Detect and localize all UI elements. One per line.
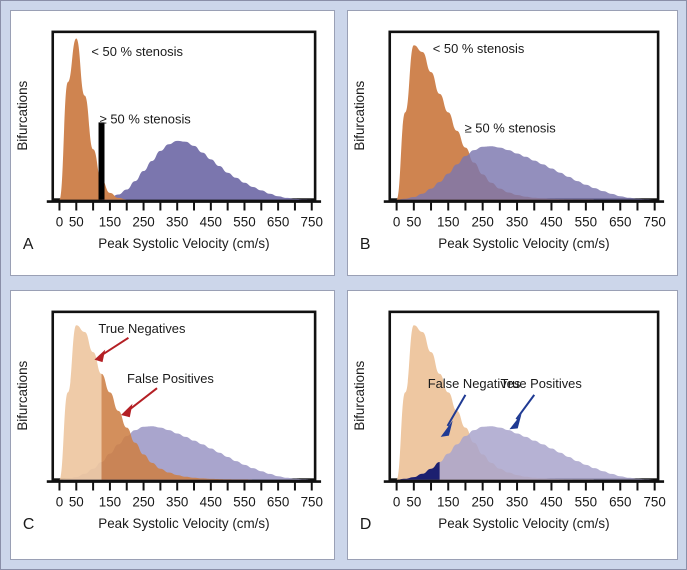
panel-d-plot: False NegativesTrue Positives05015025035… [348, 291, 677, 559]
x-tick-label: 350 [506, 214, 528, 229]
x-tick-label: 150 [437, 214, 459, 229]
low-stenosis-label: < 50 % stenosis [91, 44, 183, 59]
x-tick-label: 650 [609, 494, 631, 509]
x-tick-label: 550 [233, 494, 255, 509]
false-positives-label: False Positives [127, 371, 214, 386]
x-tick-label: 550 [233, 214, 255, 229]
threshold-bar [99, 122, 105, 199]
panel-a: < 50 % stenosis≥ 50 % stenosis0501502503… [10, 10, 335, 276]
true-positives-arrowhead [509, 414, 521, 429]
y-axis-title: Bifurcations [15, 80, 30, 150]
low-stenosis-label: < 50 % stenosis [433, 41, 525, 56]
x-tick-label: 0 [56, 494, 63, 509]
panel-b: < 50 % stenosis≥ 50 % stenosis0501502503… [347, 10, 678, 276]
x-tick-label: 0 [393, 494, 400, 509]
x-tick-label: 350 [166, 214, 188, 229]
x-tick-label: 750 [301, 214, 323, 229]
x-tick-label: 250 [471, 494, 493, 509]
x-tick-label: 450 [200, 214, 222, 229]
panel-a-plot: < 50 % stenosis≥ 50 % stenosis0501502503… [11, 11, 334, 275]
x-tick-label: 250 [132, 494, 154, 509]
x-tick-label: 650 [609, 214, 631, 229]
x-tick-label: 50 [406, 494, 421, 509]
x-tick-label: 750 [643, 214, 665, 229]
x-tick-label: 150 [99, 214, 121, 229]
x-tick-label: 150 [99, 494, 121, 509]
x-tick-label: 450 [540, 494, 562, 509]
true-positives-label: True Positives [500, 376, 581, 391]
panel-letter: C [23, 516, 34, 533]
false-positives-arrowhead [121, 404, 132, 417]
x-tick-label: 250 [132, 214, 154, 229]
x-axis-title: Peak Systolic Velocity (cm/s) [438, 516, 609, 531]
figure-root: < 50 % stenosis≥ 50 % stenosis0501502503… [0, 0, 687, 570]
x-tick-label: 750 [301, 494, 323, 509]
panel-c-plot: True NegativesFalse Positives05015025035… [11, 291, 334, 559]
panel-letter: A [23, 236, 34, 253]
y-axis-title: Bifurcations [352, 360, 367, 430]
x-tick-label: 650 [267, 214, 289, 229]
x-tick-label: 550 [575, 494, 597, 509]
true-negatives-label: True Negatives [98, 321, 185, 336]
panel-letter: B [360, 236, 371, 253]
y-axis-title: Bifurcations [15, 360, 30, 430]
x-tick-label: 50 [69, 494, 84, 509]
x-tick-label: 50 [406, 214, 421, 229]
x-tick-label: 550 [575, 214, 597, 229]
high-stenosis-label: ≥ 50 % stenosis [465, 120, 556, 135]
x-axis-title: Peak Systolic Velocity (cm/s) [98, 516, 269, 531]
x-tick-label: 150 [437, 494, 459, 509]
true-positives-arrow [516, 395, 534, 419]
panel-d: False NegativesTrue Positives05015025035… [347, 290, 678, 560]
x-tick-label: 750 [643, 494, 665, 509]
panel-c: True NegativesFalse Positives05015025035… [10, 290, 335, 560]
x-axis-title: Peak Systolic Velocity (cm/s) [98, 236, 269, 251]
panel-letter: D [360, 516, 371, 533]
x-axis-title: Peak Systolic Velocity (cm/s) [438, 236, 609, 251]
x-tick-label: 450 [200, 494, 222, 509]
x-tick-label: 350 [166, 494, 188, 509]
x-tick-label: 650 [267, 494, 289, 509]
panel-b-plot: < 50 % stenosis≥ 50 % stenosis0501502503… [348, 11, 677, 275]
x-tick-label: 350 [506, 494, 528, 509]
x-tick-label: 50 [69, 214, 84, 229]
y-axis-title: Bifurcations [352, 80, 367, 150]
x-tick-label: 0 [56, 214, 63, 229]
x-tick-label: 250 [471, 214, 493, 229]
x-tick-label: 0 [393, 214, 400, 229]
high-stenosis-label: ≥ 50 % stenosis [100, 111, 191, 126]
x-tick-label: 450 [540, 214, 562, 229]
